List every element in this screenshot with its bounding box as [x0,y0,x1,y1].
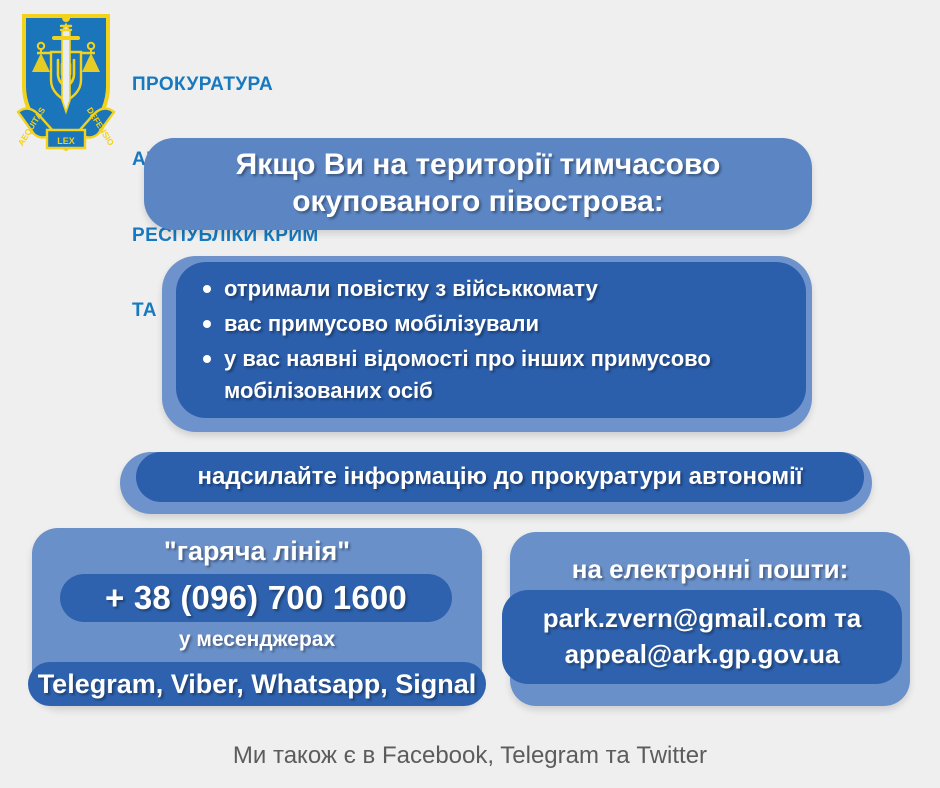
list-item: у вас наявні відомості про інших примусо… [224,343,782,407]
svg-text:LEX: LEX [57,136,75,146]
headline-line-1: Якщо Ви на території тимчасово [236,148,721,181]
list-item: отримали повістку з військкомату [224,273,782,305]
headline-line-2: окупованого півострова: [292,185,664,218]
headline-text: Якщо Ви на території тимчасово окуповано… [236,147,721,220]
email-address-2[interactable]: appeal@ark.gp.gov.ua [565,637,840,673]
prosecutors-office-emblem-icon: AEQUITAS LEX DEFENSIO [14,8,118,160]
hotline-phone-number[interactable]: + 38 (096) 700 1600 [60,574,452,622]
infographic-poster: AEQUITAS LEX DEFENSIO ПРОКУРАТУРА АВТОНО… [0,0,940,788]
conditions-panel: отримали повістку з військкомату вас при… [176,262,806,418]
social-footer: Ми також є в Facebook, Telegram та Twitt… [0,742,940,770]
list-item: вас примусово мобілізували [224,308,782,340]
conditions-list: отримали повістку з військкомату вас при… [198,273,782,407]
conditions-panel-frame: отримали повістку з військкомату вас при… [162,256,812,432]
hotline-card: "гаряча лінія" + 38 (096) 700 1600 у мес… [32,528,482,706]
messengers-list: Telegram, Viber, Whatsapp, Signal [28,662,486,706]
hotline-title: "гаряча лінія" [32,536,482,567]
email-address-1[interactable]: park.zvern@gmail.com та [543,601,861,637]
messengers-label: у месенджерах [32,628,482,652]
email-title: на електронні пошти: [510,554,910,585]
headline-band: Якщо Ви на території тимчасово окуповано… [144,138,812,230]
email-card: на електронні пошти: park.zvern@gmail.co… [510,532,910,706]
email-addresses[interactable]: park.zvern@gmail.com та appeal@ark.gp.go… [502,590,902,684]
org-name-line-1: ПРОКУРАТУРА [132,72,380,97]
call-to-action-frame: надсилайте інформацію до прокуратури авт… [120,452,872,514]
call-to-action-text: надсилайте інформацію до прокуратури авт… [136,452,864,502]
